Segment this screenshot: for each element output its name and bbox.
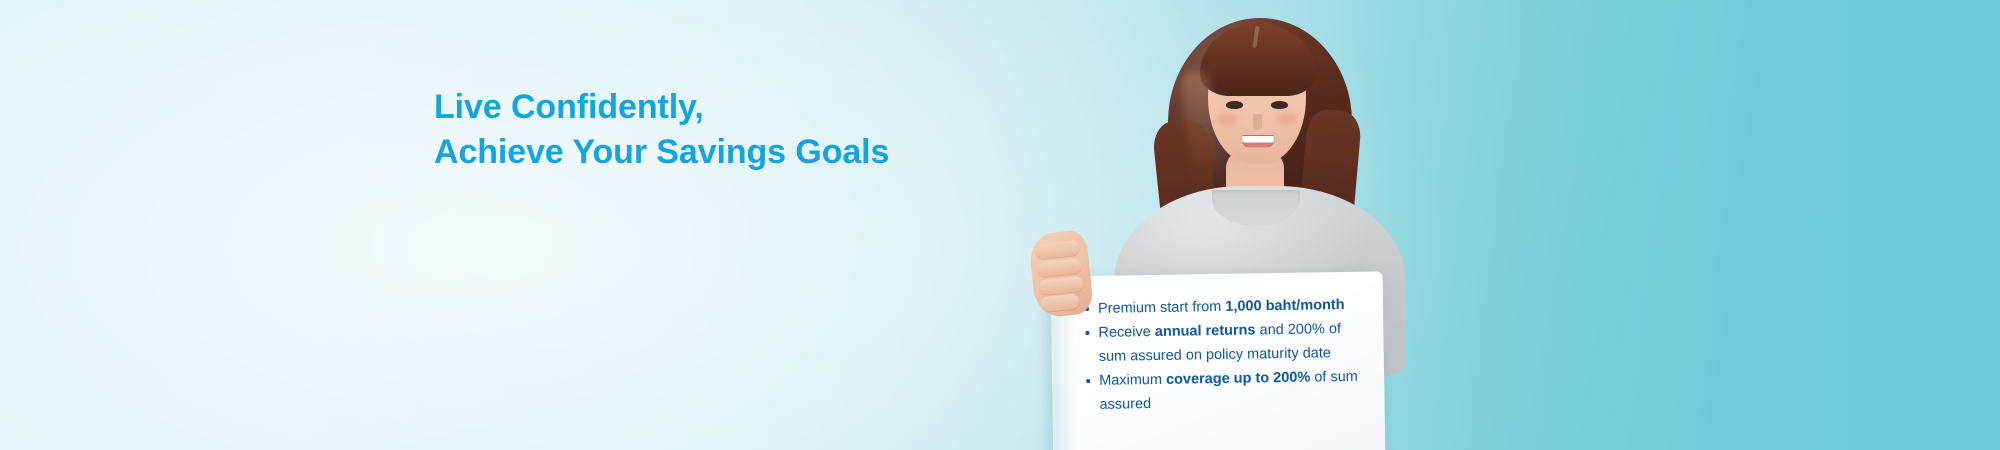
benefit-text: Premium start from <box>1098 299 1226 317</box>
nose <box>1253 114 1262 130</box>
benefit-text: Maximum <box>1099 372 1166 389</box>
cheek-left <box>1216 112 1238 125</box>
benefit-highlight: annual returns <box>1155 323 1256 341</box>
benefit-list: Premium start from 1,000 baht/monthRecei… <box>1085 294 1373 419</box>
finger <box>1035 240 1080 260</box>
finger <box>1037 258 1082 278</box>
headline-line-2: Achieve Your Savings Goals <box>434 133 889 172</box>
finger <box>1039 276 1084 296</box>
promo-banner: Live Confidently, Achieve Your Savings G… <box>0 0 2000 450</box>
benefit-item: Premium start from 1,000 baht/month <box>1085 294 1371 322</box>
benefit-item: Receive annual returns and 200% of sum a… <box>1085 318 1372 369</box>
benefit-highlight: coverage up to 200% <box>1166 370 1310 388</box>
headline-line-1: Live Confidently, <box>434 88 889 127</box>
headline: Live Confidently, Achieve Your Savings G… <box>434 88 889 173</box>
sign-card: Premium start from 1,000 baht/monthRecei… <box>1051 271 1386 450</box>
benefit-text: Receive <box>1098 324 1155 341</box>
cheek-right <box>1276 112 1298 125</box>
finger <box>1040 293 1079 312</box>
hand-holding-sign <box>1028 229 1094 319</box>
benefit-item: Maximum coverage up to 200% of sum assur… <box>1086 366 1373 417</box>
eye-right <box>1271 101 1288 109</box>
benefit-highlight: 1,000 baht/month <box>1225 297 1344 315</box>
smile <box>1241 135 1275 148</box>
eye-left <box>1226 101 1243 109</box>
